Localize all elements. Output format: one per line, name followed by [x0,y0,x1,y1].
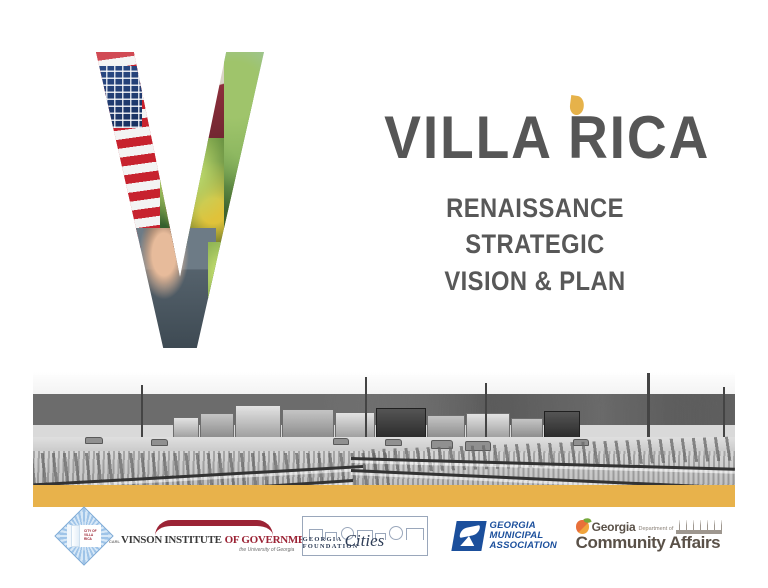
parked-vehicle [333,438,349,445]
page-subtitle: RENAISSANCE STRATEGIC VISION & PLAN [390,190,680,299]
building [376,408,426,439]
gma-mark-icon [451,521,486,551]
gma-line-3: ASSOCIATION [490,541,557,551]
dca-department-of: Department of [639,526,674,532]
photo-police-officer [112,228,216,348]
monogram-letter-r [251,52,386,348]
building [335,412,375,439]
page-subtitle-line-1: RENAISSANCE STRATEGIC [390,190,680,263]
dca-georgia-word: Georgia [592,520,636,534]
city-seal-tower-icon [71,525,80,547]
dca-top-row: Georgia Department of [576,520,723,534]
peach-leaf-icon [583,517,591,524]
vinson-prefix: CARL [109,539,120,544]
photo-student-classroom [170,52,232,144]
city-seal-diamond-icon: CITY OF VILLA RICA [54,506,113,565]
parked-vehicle [151,439,168,446]
downtown-railroad-panorama [33,365,735,485]
gcf-skyline-frame: GEORGIA FOUNDATION Cities [302,516,428,556]
building [282,409,334,439]
gma-triangle [460,536,476,546]
logo-georgia-municipal-association: GEORGIA MUNICIPAL ASSOCIATION [435,521,576,552]
monogram-letter-v [96,52,264,348]
utility-pole [485,383,487,445]
vr-monogram [96,52,386,348]
vinson-name: VINSON INSTITUTE [121,534,222,546]
building [235,405,281,439]
photo-flag-canton [98,66,142,128]
gcf-left-word: GEORGIA [303,536,342,543]
dca-main-wordmark: Community Affairs [576,533,721,553]
building [427,415,465,439]
partner-logo-row: CITY OF VILLA RICA CARL VINSON INSTITUTE… [33,507,735,565]
city-seal-inner: CITY OF VILLA RICA [67,525,101,547]
title-block: VILLA RICA RENAISSANCE STRATEGIC VISION … [370,108,700,299]
city-seal-text: CITY OF VILLA RICA [84,530,101,541]
vinson-wordmark: CARL VINSON INSTITUTE OF GOVERNMENT [109,534,320,546]
building [200,413,234,439]
page-title: VILLA RICA [384,108,710,168]
logo-georgia-dca: Georgia Department of Community Affairs [576,520,735,553]
gcf-script-word: Cities [345,531,385,551]
utility-pole [141,385,143,437]
page-subtitle-line-2: VISION & PLAN [390,263,680,299]
collage-v [96,52,264,348]
utility-pole [723,387,725,441]
peach-icon [576,520,589,534]
page-title-text: VILLA RICA [384,104,710,171]
building [466,413,510,439]
logo-vinson-institute: CARL VINSON INSTITUTE OF GOVERNMENT the … [134,520,294,553]
panorama-downtown-buildings [173,401,580,439]
cover-page: VILLA RICA RENAISSANCE STRATEGIC VISION … [0,0,768,588]
vinson-tagline: the University of Georgia [239,547,294,553]
parked-vehicle [385,439,402,446]
gma-wordmark: GEORGIA MUNICIPAL ASSOCIATION [490,521,557,552]
logo-georgia-cities-foundation: GEORGIA FOUNDATION Cities [294,516,435,556]
building [544,411,580,439]
gold-accent-band [33,485,735,507]
parked-vehicle [85,437,103,444]
dca-skyline-icon [676,520,722,534]
